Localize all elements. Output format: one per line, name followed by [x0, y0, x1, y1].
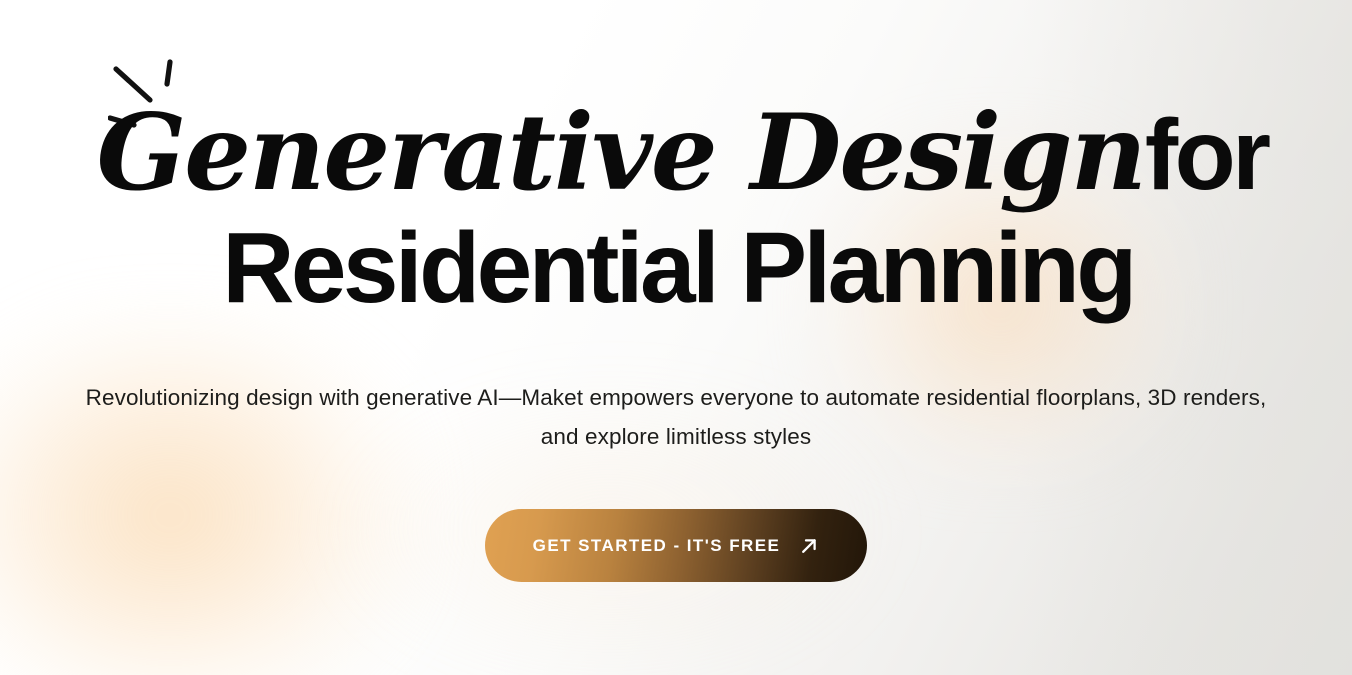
hero-section: Generative Designfor Residential Plannin… — [0, 0, 1352, 675]
page-title: Generative Designfor Residential Plannin… — [0, 100, 1352, 336]
headline-line-2: Residential Planning — [0, 218, 1352, 336]
headline-sans-tail: for — [1145, 99, 1268, 211]
hero-subtitle: Revolutionizing design with generative A… — [76, 378, 1276, 456]
headline-sans-main: Residential Planning — [222, 212, 1134, 324]
headline-line-1: Generative Designfor — [0, 100, 1352, 218]
arrow-up-right-icon — [797, 534, 821, 558]
headline-serif-emphasis: Generative Design — [97, 90, 1145, 214]
get-started-button[interactable]: GET STARTED - IT'S FREE — [485, 509, 868, 582]
cta-container: GET STARTED - IT'S FREE — [0, 509, 1352, 582]
get-started-button-label: GET STARTED - IT'S FREE — [533, 536, 781, 556]
